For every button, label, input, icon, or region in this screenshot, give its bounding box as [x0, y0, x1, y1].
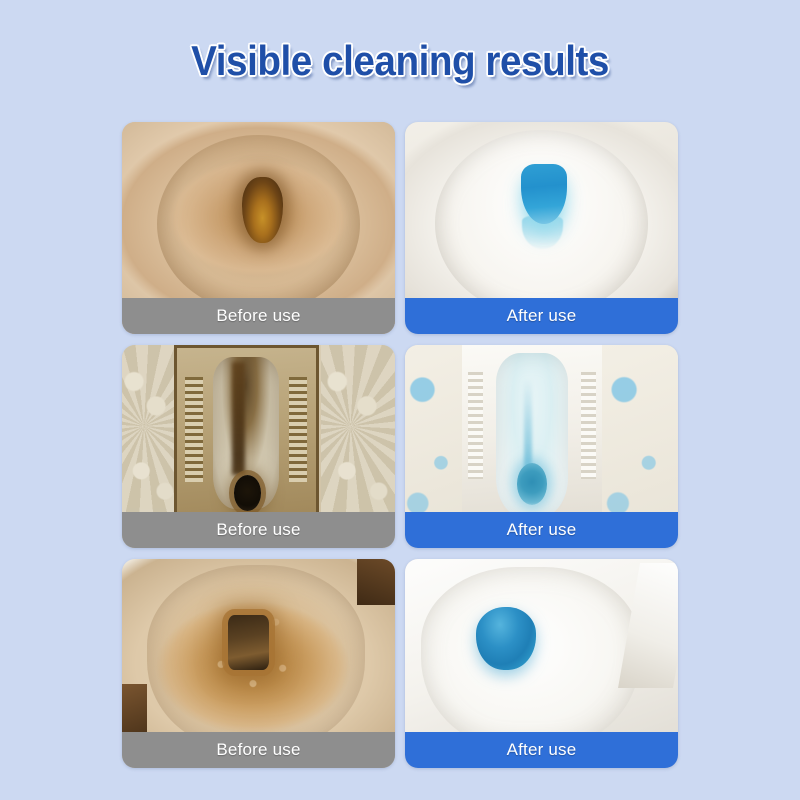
rust-streak [232, 362, 244, 474]
label-after-2: After use [405, 512, 678, 548]
pan-ribs-right [289, 377, 307, 482]
comparison-card-after-1[interactable]: After use [405, 122, 678, 334]
floor-corner-left [122, 684, 147, 738]
pan-ribs-left [185, 377, 203, 482]
pan-drain [234, 475, 262, 511]
limescale-ring [196, 601, 311, 697]
pan-ribs-left-clean [468, 372, 483, 479]
label-after-1: After use [405, 298, 678, 334]
floor-corner-top [357, 559, 395, 605]
squat-pan [174, 345, 319, 532]
page-header: Visible cleaning results [0, 0, 800, 122]
comparison-card-before-1[interactable]: Before use [122, 122, 395, 334]
blue-streak [524, 379, 532, 471]
comparison-card-before-2[interactable]: Before use [122, 345, 395, 548]
pan-ribs-right-clean [581, 372, 596, 479]
gel-highlight [487, 638, 512, 648]
toilet-seat-edge [618, 563, 678, 688]
comparison-grid: Before use After use Before use [122, 122, 678, 768]
squat-pan-clean [462, 345, 601, 536]
label-before-1: Before use [122, 298, 395, 334]
label-before-2: Before use [122, 512, 395, 548]
comparison-card-after-3[interactable]: After use [405, 559, 678, 768]
gel-drip-icon [522, 215, 563, 249]
label-after-3: After use [405, 732, 678, 768]
comparison-card-after-2[interactable]: After use [405, 345, 678, 548]
label-before-3: Before use [122, 732, 395, 768]
page-title: Visible cleaning results [191, 37, 609, 85]
comparison-card-before-3[interactable]: Before use [122, 559, 395, 768]
